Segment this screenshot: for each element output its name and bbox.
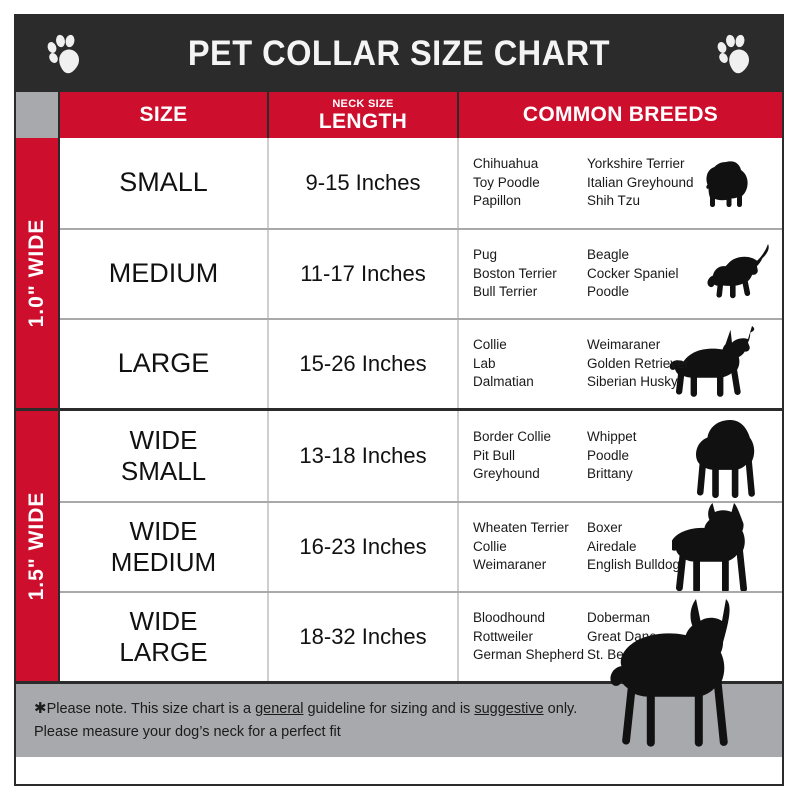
breed-item: Papillon xyxy=(473,192,587,210)
cell-length: 18-32 Inches xyxy=(269,593,459,681)
breed-item: Siberian Husky xyxy=(587,373,717,391)
table-row: WIDE SMALL 13-18 Inches Border Collie Pi… xyxy=(60,411,782,501)
column-header-length: NECK SIZE LENGTH xyxy=(269,92,459,138)
breed-item: Cocker Spaniel xyxy=(587,265,717,283)
table-row: MEDIUM 11-17 Inches Pug Boston Terrier B… xyxy=(60,228,782,318)
cell-size: WIDE LARGE xyxy=(60,593,269,681)
breed-item: Bull Terrier xyxy=(473,283,587,301)
breed-item: Whippet xyxy=(587,428,717,446)
breed-item: Golden Retriever xyxy=(587,355,717,373)
table-row: LARGE 15-26 Inches Collie Lab Dalmatian … xyxy=(60,318,782,408)
breed-item: Pug xyxy=(473,246,587,264)
cell-breeds: Border Collie Pit Bull Greyhound Whippet… xyxy=(459,411,782,501)
breed-item: Beagle xyxy=(587,246,717,264)
table-row: WIDE MEDIUM 16-23 Inches Wheaten Terrier… xyxy=(60,501,782,591)
breed-item: Wheaten Terrier xyxy=(473,519,587,537)
breed-item: Shih Tzu xyxy=(587,192,717,210)
breed-item: English Bulldog xyxy=(587,556,717,574)
cell-length: 16-23 Inches xyxy=(269,503,459,591)
breeds-column-2: Weimaraner Golden Retriever Siberian Hus… xyxy=(587,336,717,391)
cell-breeds: Wheaten Terrier Collie Weimaraner Boxer … xyxy=(459,503,782,591)
breeds-column-1: Wheaten Terrier Collie Weimaraner xyxy=(473,519,587,574)
breed-item: Collie xyxy=(473,336,587,354)
breed-item: Poodle xyxy=(587,283,717,301)
breed-item: Italian Greyhound xyxy=(587,174,717,192)
section-label-text: 1.0" WIDE xyxy=(25,219,49,328)
breeds-column-1: Border Collie Pit Bull Greyhound xyxy=(473,428,587,483)
breeds-column-2: Boxer Airedale English Bulldog xyxy=(587,519,717,574)
footer-underline-general: general xyxy=(255,701,303,717)
breed-item: Dalmatian xyxy=(473,373,587,391)
cell-size: LARGE xyxy=(60,320,269,408)
breeds-column-2: Whippet Poodle Brittany xyxy=(587,428,717,483)
breed-item: Poodle xyxy=(587,447,717,465)
breeds-column-2: Yorkshire Terrier Italian Greyhound Shih… xyxy=(587,155,717,210)
table-header-row: SIZE NECK SIZE LENGTH COMMON BREEDS xyxy=(16,92,782,138)
breeds-column-1: Pug Boston Terrier Bull Terrier xyxy=(473,246,587,301)
footer-text: guideline for sizing and is xyxy=(303,701,474,717)
section-label-text: 1.5" WIDE xyxy=(25,492,49,601)
header-corner-cell xyxy=(16,92,60,138)
section-label-1-5-wide: 1.5" WIDE xyxy=(16,411,60,681)
cell-length: 15-26 Inches xyxy=(269,320,459,408)
breeds-column-1: Chihuahua Toy Poodle Papillon xyxy=(473,155,587,210)
section-1-0-wide: 1.0" WIDE SMALL 9-15 Inches Chihuahua To… xyxy=(16,138,782,408)
footer-underline-suggestive: suggestive xyxy=(474,701,543,717)
cell-breeds: Collie Lab Dalmatian Weimaraner Golden R… xyxy=(459,320,782,408)
breed-item: Boston Terrier xyxy=(473,265,587,283)
column-header-neck-size: NECK SIZE xyxy=(332,99,393,110)
breed-item: Bloodhound xyxy=(473,609,587,627)
cell-breeds: Pug Boston Terrier Bull Terrier Beagle C… xyxy=(459,230,782,318)
breeds-column-2: Beagle Cocker Spaniel Poodle xyxy=(587,246,717,301)
doberman-silhouette-icon xyxy=(598,597,768,762)
breed-item: Lab xyxy=(473,355,587,373)
section-rows: SMALL 9-15 Inches Chihuahua Toy Poodle P… xyxy=(60,138,782,408)
cell-length: 13-18 Inches xyxy=(269,411,459,501)
breed-item: Border Collie xyxy=(473,428,587,446)
cell-size: WIDE SMALL xyxy=(60,411,269,501)
column-header-size: SIZE xyxy=(60,92,269,138)
breed-item: Airedale xyxy=(587,538,717,556)
page-title: PET COLLAR SIZE CHART xyxy=(188,34,610,74)
breed-item: Boxer xyxy=(587,519,717,537)
asterisk-icon: ✱ xyxy=(34,700,47,717)
breed-item: Pit Bull xyxy=(473,447,587,465)
cell-size: WIDE MEDIUM xyxy=(60,503,269,591)
breed-item: German Shepherd xyxy=(473,646,587,664)
chart-header: PET COLLAR SIZE CHART xyxy=(16,16,782,92)
cell-size: MEDIUM xyxy=(60,230,269,318)
breed-item: Weimaraner xyxy=(587,336,717,354)
breed-item: Greyhound xyxy=(473,465,587,483)
cell-breeds: Chihuahua Toy Poodle Papillon Yorkshire … xyxy=(459,138,782,228)
footer-text: only. xyxy=(544,701,578,717)
breed-item: Rottweiler xyxy=(473,628,587,646)
breed-item: Toy Poodle xyxy=(473,174,587,192)
pet-collar-size-chart: PET COLLAR SIZE CHART SIZE NECK SIZE LEN… xyxy=(0,0,800,800)
chart-frame: PET COLLAR SIZE CHART SIZE NECK SIZE LEN… xyxy=(14,14,784,786)
breed-item: Weimaraner xyxy=(473,556,587,574)
paw-print-icon xyxy=(714,33,754,75)
breed-item: Yorkshire Terrier xyxy=(587,155,717,173)
breed-item: Chihuahua xyxy=(473,155,587,173)
cell-length: 11-17 Inches xyxy=(269,230,459,318)
breed-item: Collie xyxy=(473,538,587,556)
column-header-breeds: COMMON BREEDS xyxy=(459,92,782,138)
table-row: SMALL 9-15 Inches Chihuahua Toy Poodle P… xyxy=(60,138,782,228)
breeds-column-1: Bloodhound Rottweiler German Shepherd xyxy=(473,609,587,664)
cell-size: SMALL xyxy=(60,138,269,228)
breed-item: Brittany xyxy=(587,465,717,483)
section-label-1-0-wide: 1.0" WIDE xyxy=(16,138,60,408)
paw-print-icon xyxy=(44,33,84,75)
breeds-column-1: Collie Lab Dalmatian xyxy=(473,336,587,391)
cell-length: 9-15 Inches xyxy=(269,138,459,228)
footer-text: Please note. This size chart is a xyxy=(47,701,255,717)
column-header-length-label: LENGTH xyxy=(319,111,407,132)
